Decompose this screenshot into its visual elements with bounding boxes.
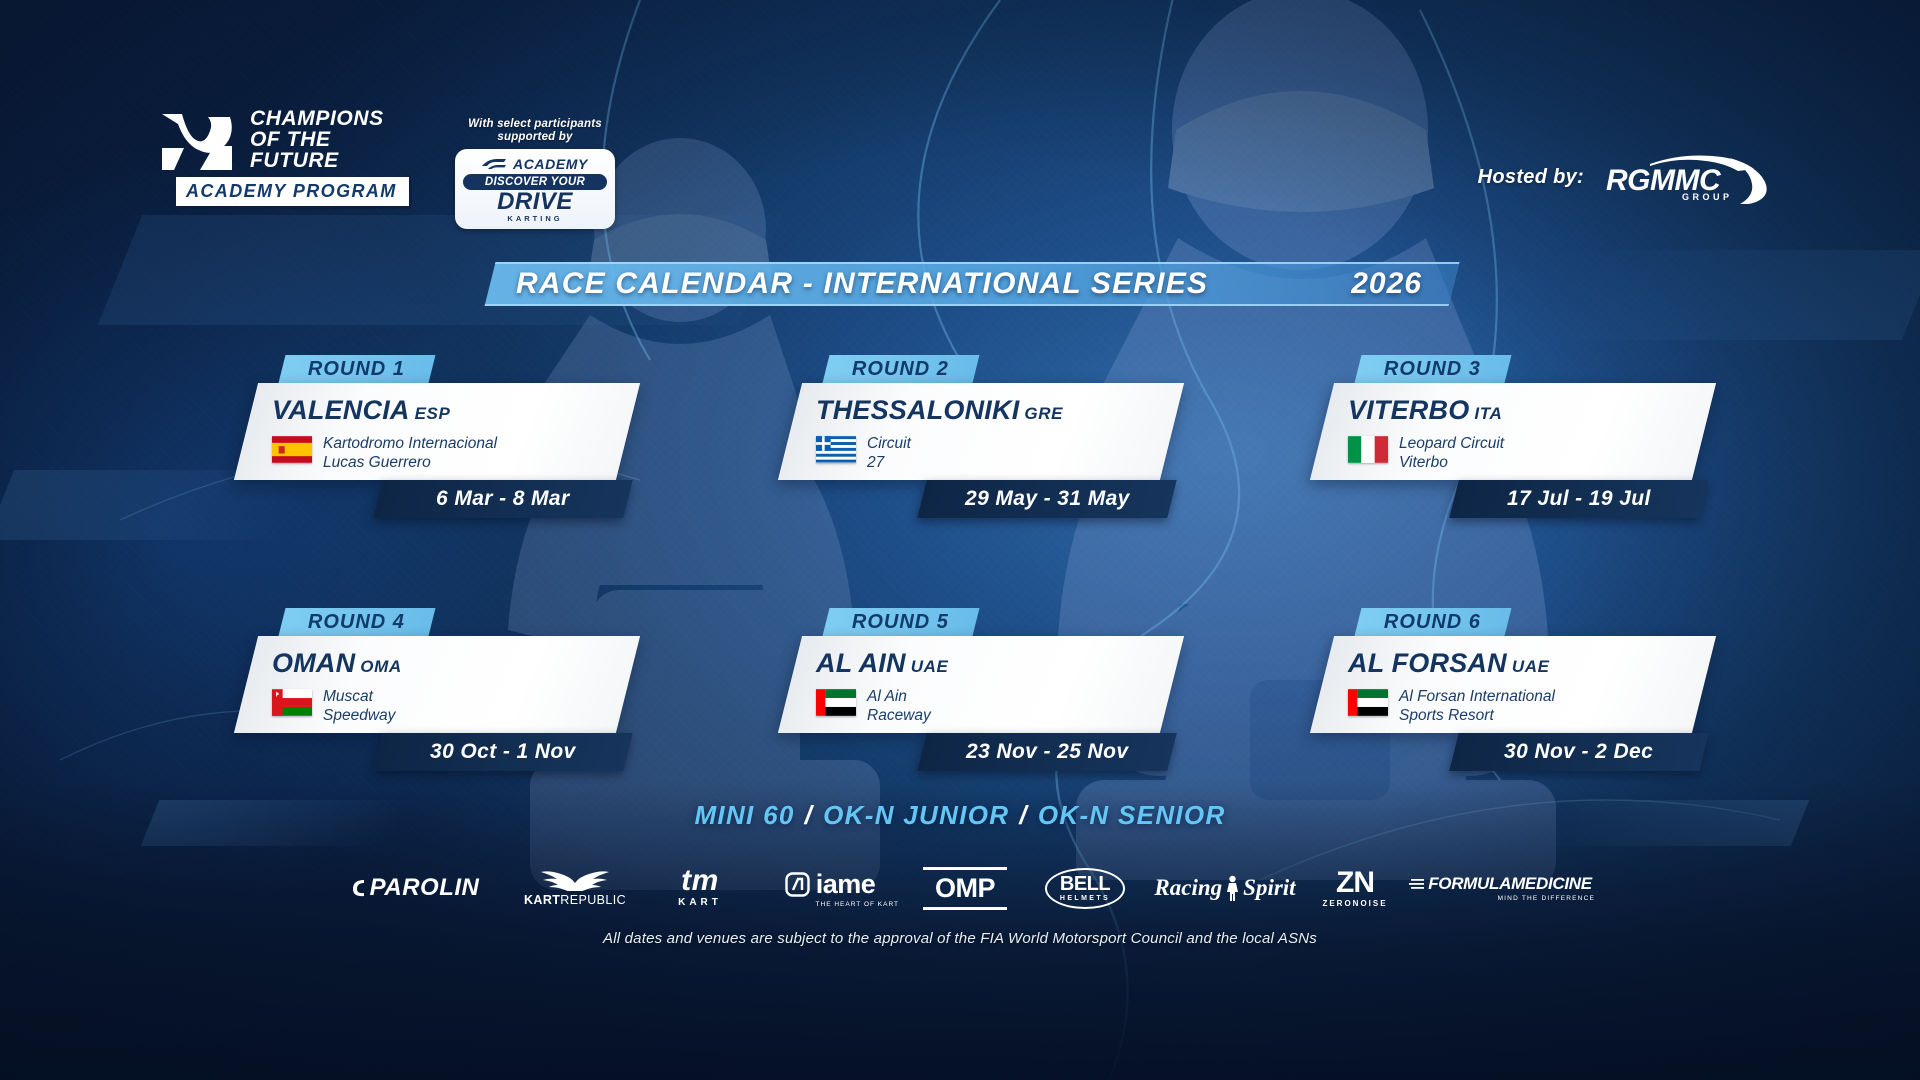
round-card-2[interactable]: ROUND 2 THESSALONIKIGRE [790, 355, 1172, 518]
sponsor-name: FORMULAMEDICINE [1428, 874, 1592, 894]
round-tag-label: ROUND 6 [1384, 611, 1481, 634]
hosted-by-label: Hosted by: [1478, 166, 1584, 189]
round-dates-label: 6 Mar - 8 Mar [436, 487, 570, 511]
f1-academy-discover-your-drive-badge: With select participants supported by AC… [455, 118, 615, 229]
sponsor-name: OMP [935, 873, 995, 904]
sponsor-sub: KART [678, 897, 722, 908]
sponsor-name: tm [681, 868, 719, 894]
round-tag: ROUND 2 [823, 355, 980, 383]
round-dates: 30 Nov - 2 Dec [1449, 733, 1708, 771]
flag-oman-icon [272, 689, 312, 716]
round-body: AL AINUAE Al Ain Raceway [778, 636, 1184, 733]
round-city: VALENCIAESP [272, 395, 608, 429]
round-body: AL FORSANUAE Al Forsan International Spo… [1310, 636, 1716, 733]
sponsor-name: iame [816, 869, 876, 900]
sponsor-kart-republic: KARTREPUBLIC [505, 855, 645, 921]
round-dates: 17 Jul - 19 Jul [1449, 480, 1708, 518]
round-dates-label: 30 Nov - 2 Dec [1504, 740, 1653, 764]
sponsor-formula-medicine: FORMULAMEDICINE MIND THE DIFFERENCE [1405, 855, 1595, 921]
category-okn-junior: OK-N JUNIOR [823, 800, 1009, 830]
round-city: OMANOMA [272, 648, 608, 682]
round-city: AL AINUAE [816, 648, 1152, 682]
round-dates-label: 17 Jul - 19 Jul [1507, 487, 1651, 511]
drive-label: DRIVE [463, 190, 607, 214]
round-body: THESSALONIKIGRE [778, 383, 1184, 480]
kart-republic-wings-icon [539, 869, 611, 891]
sponsor-tm-kart: tm KART [645, 855, 755, 921]
flag-italy-icon [1348, 436, 1388, 463]
sponsor-name: Racing [1154, 875, 1222, 901]
round-card-3[interactable]: ROUND 3 VITERBOITA Leopard Circuit Viter… [1322, 355, 1704, 518]
sponsor-name: BELL [1060, 874, 1110, 894]
round-dates: 6 Mar - 8 Mar [373, 480, 632, 518]
sponsor-name: KARTREPUBLIC [524, 893, 626, 907]
category-mini60: MINI 60 [694, 800, 794, 830]
round-city-name: OMAN [272, 648, 355, 678]
parolin-logo-icon [351, 878, 367, 898]
logo-line-2: OF THE [250, 129, 409, 150]
round-body: VITERBOITA Leopard Circuit Viterbo [1310, 383, 1716, 480]
partner-caption-line-1: With select participants [455, 118, 615, 131]
round-card-6[interactable]: ROUND 6 AL FORSANUAE [1322, 608, 1704, 771]
academy-program-badge: ACADEMY PROGRAM [176, 177, 409, 206]
page-title: RACE CALENDAR - INTERNATIONAL SERIES [516, 267, 1208, 301]
round-tag: ROUND 4 [279, 608, 436, 636]
flag-uae-icon [1348, 689, 1388, 716]
round-country-code: OMA [360, 657, 401, 676]
sponsor-sub: THE HEART OF KART [816, 901, 899, 908]
flag-spain-icon [272, 436, 312, 463]
flag-greece-icon [816, 436, 856, 463]
partner-caption-line-2: supported by [455, 131, 615, 144]
round-venue: Leopard Circuit Viterbo [1399, 434, 1504, 472]
round-card-5[interactable]: ROUND 5 AL AINUAE [790, 608, 1172, 771]
round-tag-label: ROUND 1 [308, 358, 405, 381]
round-tag: ROUND 1 [279, 355, 436, 383]
round-tag-label: ROUND 2 [852, 358, 949, 381]
round-body: OMANOMA Muscat Speedway [234, 636, 640, 733]
round-city: VITERBOITA [1348, 395, 1684, 429]
sponsor-zeronoise: ZN ZERONOISE [1305, 855, 1405, 921]
round-card-1[interactable]: ROUND 1 VALENCIAESP Kartodromo Internaci… [246, 355, 628, 518]
round-city-name: THESSALONIKI [816, 395, 1019, 425]
round-city: AL FORSANUAE [1348, 648, 1684, 682]
round-city-name: AL AIN [816, 648, 906, 678]
round-dates: 23 Nov - 25 Nov [917, 733, 1176, 771]
sponsor-sub: ZERONOISE [1322, 899, 1387, 908]
round-dates: 30 Oct - 1 Nov [373, 733, 632, 771]
sponsor-iame: iame THE HEART OF KART [755, 855, 905, 921]
rounds-row-2: ROUND 4 OMANOMA [0, 608, 1920, 823]
champions-of-the-future-mark-icon [160, 108, 234, 172]
round-venue: Muscat Speedway [323, 687, 395, 725]
rounds-grid: ROUND 1 VALENCIAESP Kartodromo Internaci… [0, 355, 1920, 823]
poster-stage: CHAMPIONS OF THE FUTURE ACADEMY PROGRAM … [0, 0, 1920, 1080]
sponsor-racing-spirit: Racing Spirit [1145, 855, 1305, 921]
calendar-year: 2026 [1351, 267, 1436, 301]
sponsor-bell-helmets: BELL HELMETS [1025, 855, 1145, 921]
round-country-code: ITA [1474, 404, 1502, 423]
round-dates: 29 May - 31 May [917, 480, 1176, 518]
sponsor-name: PAROLIN [370, 874, 480, 902]
sponsor-parolin: PAROLIN [325, 855, 505, 921]
round-venue: Kartodromo Internacional Lucas Guerrero [323, 434, 497, 472]
round-country-code: GRE [1024, 404, 1063, 423]
sponsor-name: ZN [1336, 869, 1374, 897]
rgmmc-logo: RGMMC GROUP [1602, 150, 1770, 204]
round-card-4[interactable]: ROUND 4 OMANOMA [246, 608, 628, 771]
sponsor-logos-row: PAROLIN KARTREPUBLIC tm KART [0, 855, 1920, 921]
round-tag-label: ROUND 4 [308, 611, 405, 634]
round-country-code: ESP [415, 404, 451, 423]
logo-line-3: FUTURE [250, 150, 409, 171]
round-tag: ROUND 6 [1355, 608, 1512, 636]
categories-row: MINI 60/OK-N JUNIOR/OK-N SENIOR [0, 800, 1920, 831]
round-city-name: VALENCIA [272, 395, 410, 425]
formula-medicine-lines-icon [1408, 877, 1424, 891]
round-country-code: UAE [911, 657, 949, 676]
rounds-row-1: ROUND 1 VALENCIAESP Kartodromo Internaci… [0, 355, 1920, 570]
round-dates-label: 23 Nov - 25 Nov [966, 740, 1128, 764]
iame-logo-icon [785, 872, 810, 897]
round-body: VALENCIAESP Kartodromo Internacional Luc… [234, 383, 640, 480]
round-venue: Circuit 27 [867, 434, 911, 472]
category-okn-senior: OK-N SENIOR [1038, 800, 1226, 830]
rgmmc-group-sub: GROUP [1682, 192, 1733, 202]
f1-logo-icon [482, 158, 508, 170]
round-city: THESSALONIKIGRE [816, 395, 1152, 429]
sponsor-sub: HELMETS [1060, 894, 1110, 903]
sponsor-name-2: Spirit [1243, 875, 1295, 901]
round-city-name: VITERBO [1348, 395, 1469, 425]
round-tag-label: ROUND 3 [1384, 358, 1481, 381]
round-venue: Al Ain Raceway [867, 687, 931, 725]
disclaimer-text: All dates and venues are subject to the … [0, 930, 1920, 947]
round-dates-label: 29 May - 31 May [965, 487, 1130, 511]
f1-academy-word: ACADEMY [513, 156, 588, 172]
sponsor-omp: OMP [905, 855, 1025, 921]
race-calendar-title-banner: RACE CALENDAR - INTERNATIONAL SERIES 202… [490, 262, 1454, 306]
hosted-by-block: Hosted by: RGMMC GROUP [1478, 150, 1770, 204]
round-tag-label: ROUND 5 [852, 611, 949, 634]
round-venue: Al Forsan International Sports Resort [1399, 687, 1555, 725]
karting-label: KARTING [463, 214, 607, 224]
round-tag: ROUND 5 [823, 608, 980, 636]
category-separator: / [1019, 800, 1028, 830]
flag-uae-icon [816, 689, 856, 716]
sponsor-sub: MIND THE DIFFERENCE [1498, 895, 1595, 902]
category-separator: / [805, 800, 814, 830]
round-city-name: AL FORSAN [1348, 648, 1507, 678]
champions-of-the-future-logo: CHAMPIONS OF THE FUTURE ACADEMY PROGRAM [160, 108, 409, 206]
round-country-code: UAE [1512, 657, 1550, 676]
racing-spirit-figure-icon [1224, 875, 1241, 901]
logo-line-1: CHAMPIONS [250, 108, 409, 129]
round-tag: ROUND 3 [1355, 355, 1512, 383]
round-dates-label: 30 Oct - 1 Nov [430, 740, 576, 764]
